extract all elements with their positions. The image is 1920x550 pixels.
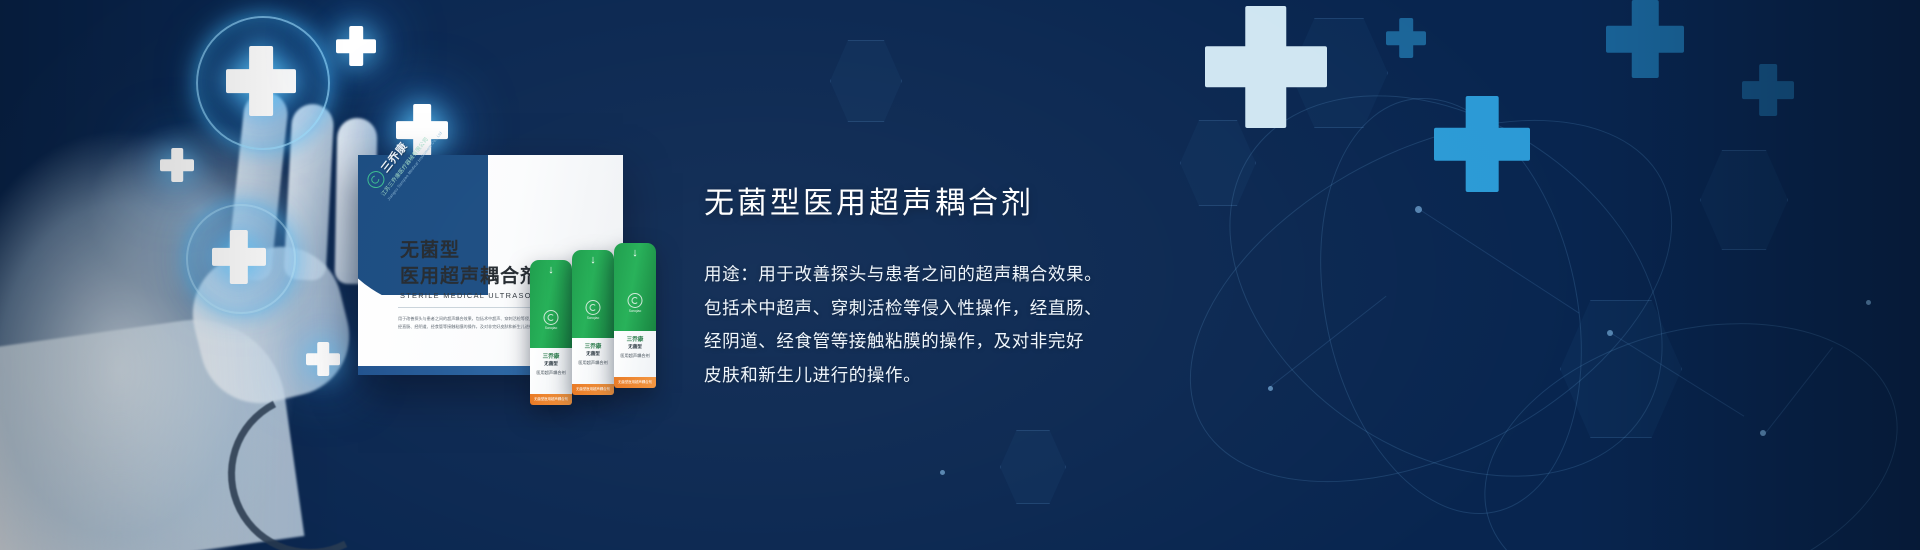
cross-icon <box>306 342 340 376</box>
sachet-name-line1: 无菌型 <box>572 351 614 357</box>
sachet-brand: Sanqiao <box>587 316 599 320</box>
sachet-bottom-bar: 无菌型医用超声耦合剂 <box>530 394 572 405</box>
sachet-bottom-bar: 无菌型医用超声耦合剂 <box>572 384 614 395</box>
sachet-logo-icon <box>586 300 601 315</box>
node-dot <box>1866 300 1871 305</box>
sachet-brand-cn: 三乔康 <box>614 335 656 343</box>
sachet-logo-icon <box>544 310 559 325</box>
product-box-title-line1: 无菌型 <box>400 235 460 262</box>
sachet-brand: Sanqiao <box>545 326 557 330</box>
description-line-2: 包括术中超声、穿刺活检等侵入性操作，经直肠、 <box>704 292 1344 326</box>
sachet-bottom-text: 无菌型医用超声耦合剂 <box>572 384 614 395</box>
sachet-bottom-text: 无菌型医用超声耦合剂 <box>614 377 656 388</box>
cross-icon <box>1434 96 1530 192</box>
node-dot <box>940 470 945 475</box>
hero-banner: 三乔康 江苏三乔康医疗器械有限公司 Jiangsu Sanqiao Medica… <box>0 0 1920 550</box>
sachet-brand-cn: 三乔康 <box>572 342 614 350</box>
banner-description: 用途：用于改善探头与患者之间的超声耦合效果。 包括术中超声、穿刺活检等侵入性操作… <box>704 258 1344 392</box>
cross-icon <box>1606 0 1684 78</box>
sachet-brand: Sanqiao <box>629 309 641 313</box>
sachet-name-line2: 医用超声耦合剂 <box>530 370 572 376</box>
sachet-logo-icon <box>628 293 643 308</box>
sachet-name-line2: 医用超声耦合剂 <box>614 353 656 359</box>
cross-icon <box>336 26 376 66</box>
sachet-bottom-text: 无菌型医用超声耦合剂 <box>530 394 572 405</box>
sachet-name-line2: 医用超声耦合剂 <box>572 360 614 366</box>
tear-arrow-icon: ↓ <box>590 255 596 266</box>
sachet-bottom-bar: 无菌型医用超声耦合剂 <box>614 377 656 388</box>
cross-icon <box>160 148 194 182</box>
description-line-3: 经阴道、经食管等接触粘膜的操作，及对非完好 <box>704 325 1344 359</box>
page-title: 无菌型医用超声耦合剂 <box>704 178 1344 222</box>
sachet: ↓ Sanqiao 三乔康 无菌型 医用超声耦合剂 无菌型医用超声耦合剂 <box>572 250 614 395</box>
cross-icon <box>226 46 296 116</box>
sachet-brand-cn: 三乔康 <box>530 352 572 360</box>
cross-icon <box>1742 64 1794 116</box>
cross-icon <box>212 230 266 284</box>
cross-icon <box>1386 18 1426 58</box>
tear-arrow-icon: ↓ <box>632 248 638 259</box>
banner-copy: 无菌型医用超声耦合剂 用途：用于改善探头与患者之间的超声耦合效果。 包括术中超声… <box>704 178 1344 392</box>
description-line-1: 用途：用于改善探头与患者之间的超声耦合效果。 <box>704 258 1344 292</box>
hexagon-shape <box>1000 430 1066 504</box>
sachet-name-line1: 无菌型 <box>530 361 572 367</box>
hexagon-shape <box>830 40 902 122</box>
sachet: ↓ Sanqiao 三乔康 无菌型 医用超声耦合剂 无菌型医用超声耦合剂 <box>614 243 656 388</box>
cross-icon <box>1205 6 1327 128</box>
description-line-4: 皮肤和新生儿进行的操作。 <box>704 359 1344 393</box>
tear-arrow-icon: ↓ <box>548 265 554 276</box>
sachet: ↓ Sanqiao 三乔康 无菌型 医用超声耦合剂 无菌型医用超声耦合剂 <box>530 260 572 405</box>
hexagon-shape <box>1700 150 1788 250</box>
product-box-title-line2: 医用超声耦合剂 <box>400 261 540 288</box>
sachet-name-line1: 无菌型 <box>614 344 656 350</box>
